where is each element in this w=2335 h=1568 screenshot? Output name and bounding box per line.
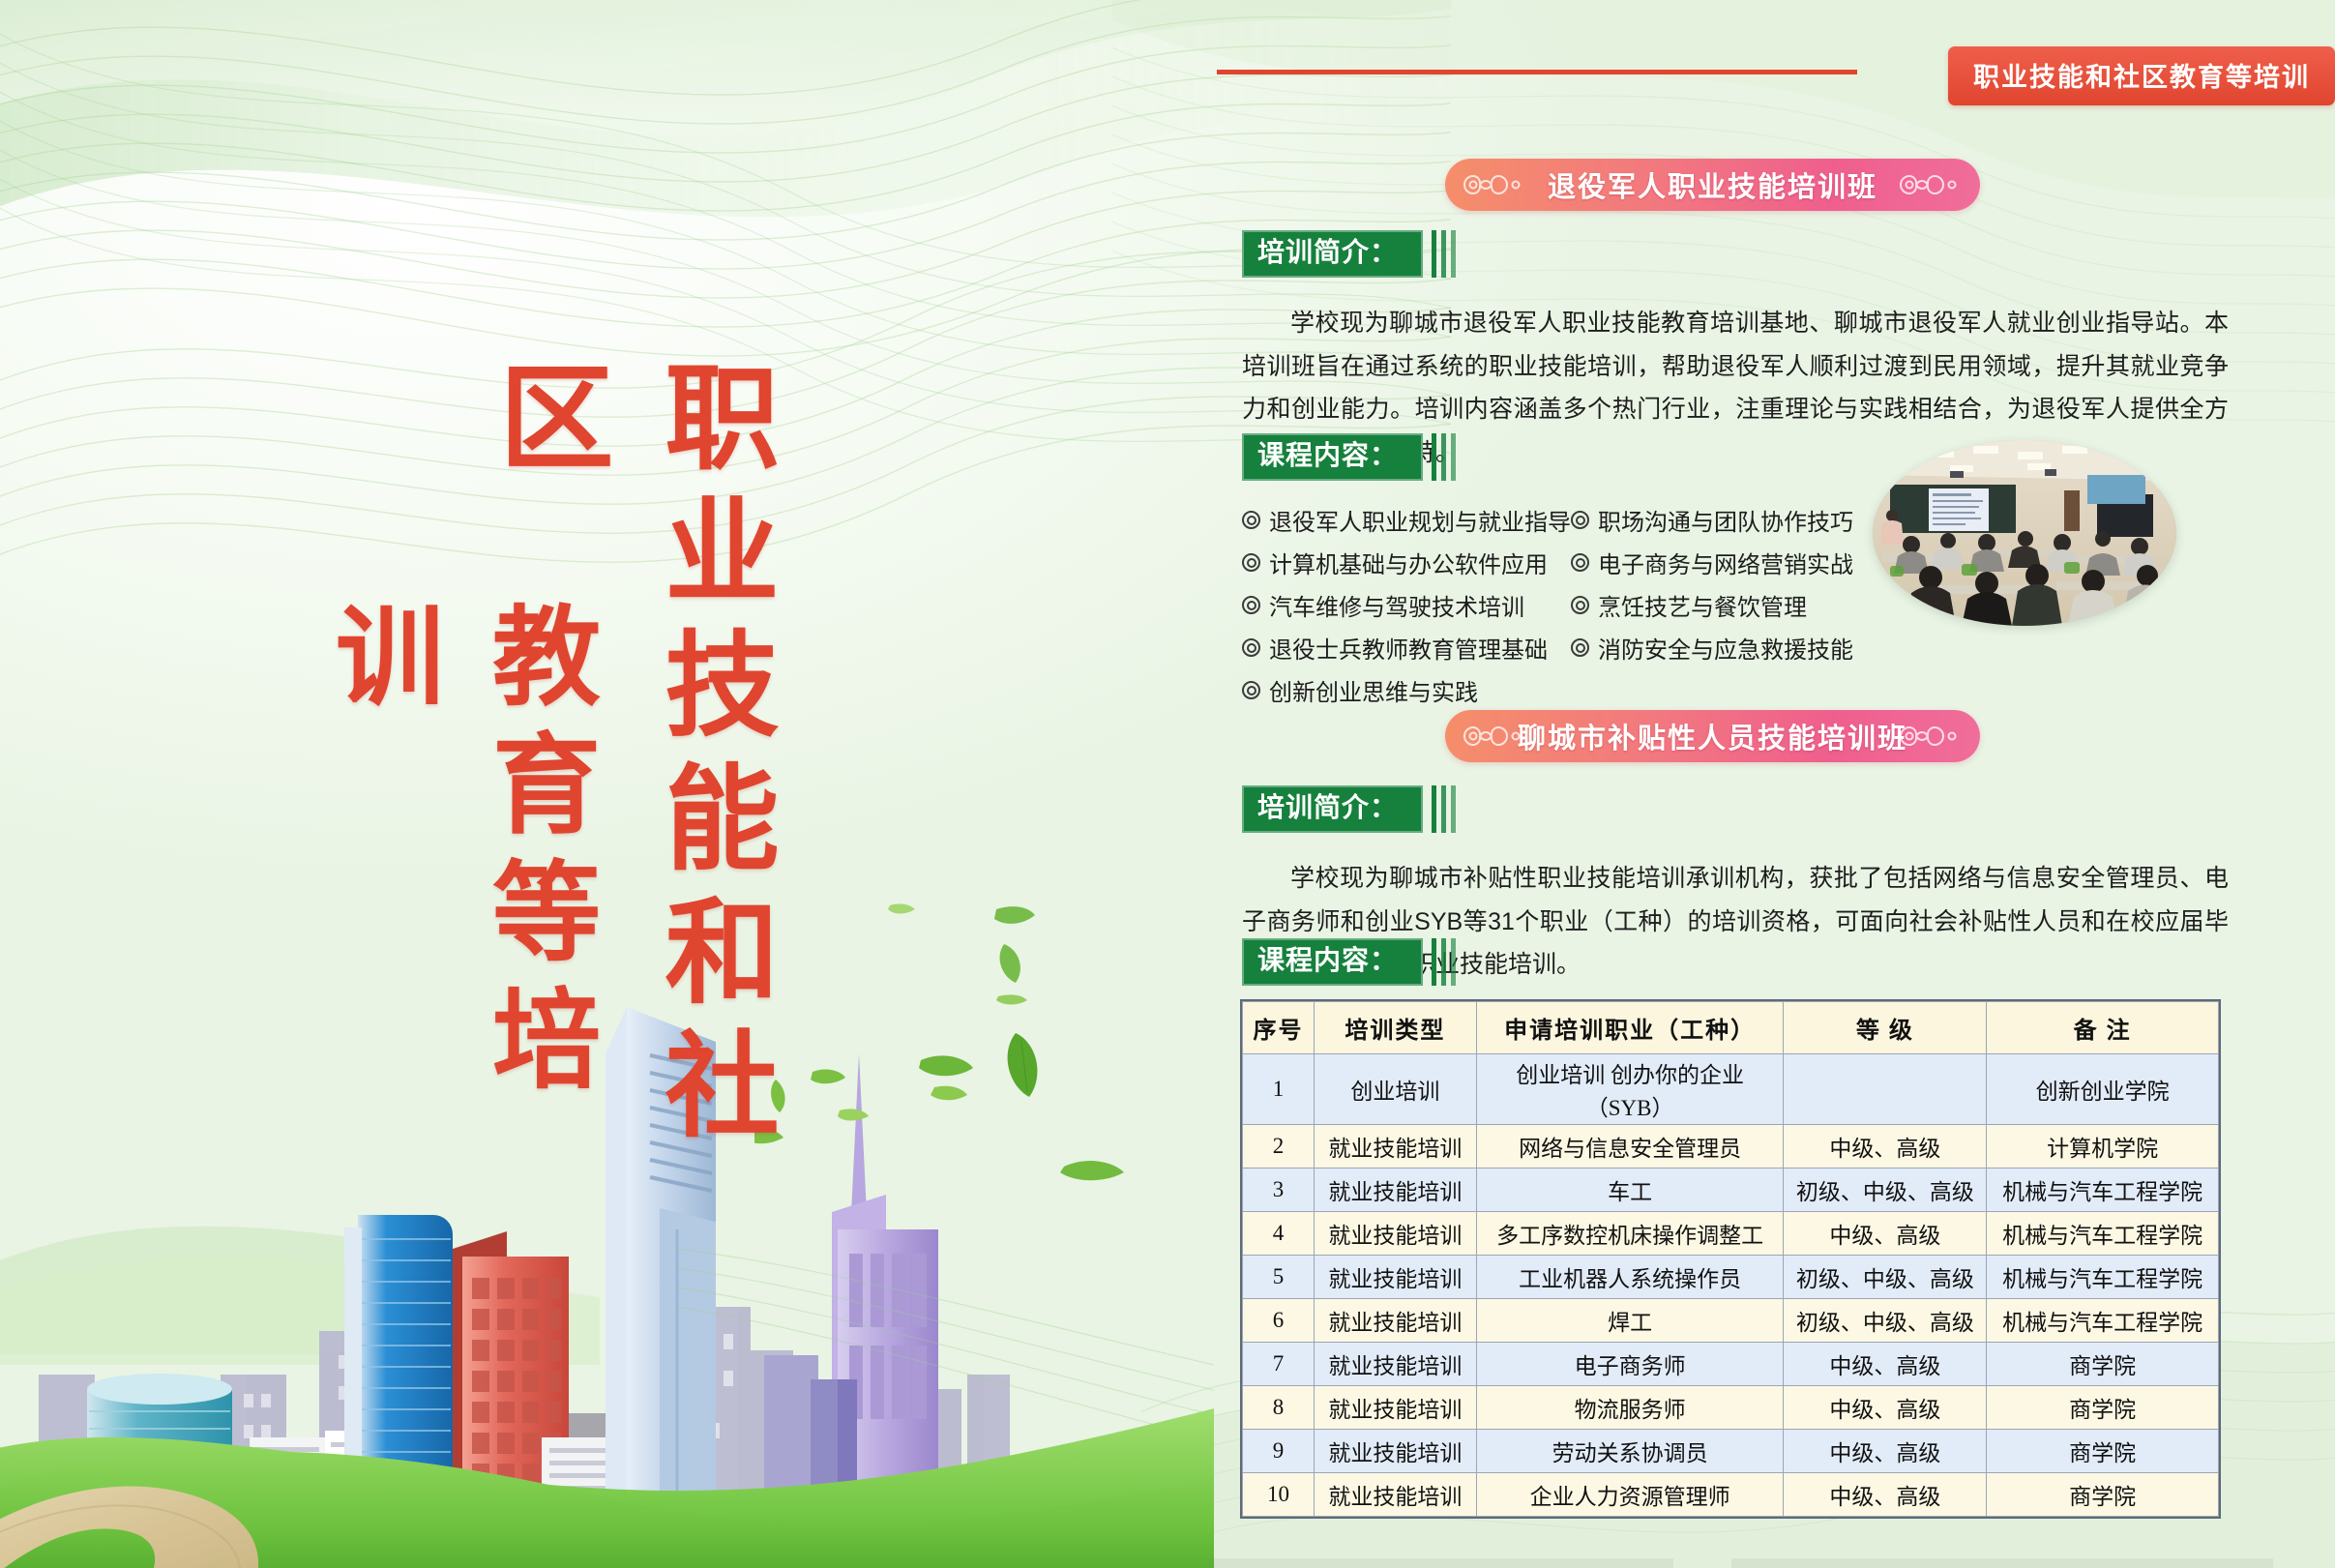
bullet-icon (1242, 511, 1260, 529)
table-body: 1创业培训创业培训 创办你的企业（SYB）创新创业学院 2就业技能培训网络与信息… (1243, 1054, 2219, 1517)
cell-no: 9 (1243, 1430, 1315, 1473)
cell-level: 中级、高级 (1784, 1430, 1987, 1473)
chip-bars (1432, 433, 1456, 481)
cloud-ornament-icon (1895, 718, 1966, 754)
intro-label-1: 培训简介： (1242, 230, 1456, 278)
cell-type: 就业技能培训 (1314, 1125, 1476, 1169)
courses-label-1: 课程内容： (1242, 433, 1456, 481)
cell-level: 中级、高级 (1784, 1473, 1987, 1517)
fold-mark-right (1731, 1558, 2273, 1568)
intro-label-2: 培训简介： (1242, 785, 1456, 833)
section-banner-1: 退役军人职业技能培训班 (1445, 159, 1980, 211)
cloud-ornament-icon (1459, 718, 1530, 754)
cell-no: 10 (1243, 1473, 1315, 1517)
course-item-label: 烹饪技艺与餐饮管理 (1598, 588, 1807, 622)
cell-occupation: 劳动关系协调员 (1476, 1430, 1784, 1473)
cell-level: 中级、高级 (1784, 1343, 1987, 1386)
cell-remark: 计算机学院 (1987, 1125, 2219, 1169)
cell-no: 2 (1243, 1125, 1315, 1169)
course-item: 烹饪技艺与餐饮管理 (1571, 588, 1878, 622)
header-rule (1217, 70, 1857, 74)
content-column: 职业技能和社区教育等培训 退役军人职业技能培训班 培训简介： 学校现为聊城市退役… (1227, 0, 2335, 1568)
bullet-icon (1571, 596, 1589, 614)
cell-occupation: 网络与信息安全管理员 (1476, 1125, 1784, 1169)
cell-no: 7 (1243, 1343, 1315, 1386)
cell-remark: 创新创业学院 (1987, 1054, 2219, 1125)
bullet-icon (1242, 681, 1260, 699)
cell-level: 初级、中级、高级 (1784, 1169, 1987, 1212)
cell-type: 就业技能培训 (1314, 1212, 1476, 1256)
table-row: 8就业技能培训物流服务师中级、高级商学院 (1243, 1386, 2219, 1430)
cell-occupation: 企业人力资源管理师 (1476, 1473, 1784, 1517)
table-row: 7就业技能培训电子商务师中级、高级商学院 (1243, 1343, 2219, 1386)
cell-occupation: 车工 (1476, 1169, 1784, 1212)
cell-level: 中级、高级 (1784, 1125, 1987, 1169)
cell-type: 创业培训 (1314, 1054, 1476, 1125)
table-header-cell: 申请培训职业（工种） (1476, 1002, 1784, 1054)
header-tag: 职业技能和社区教育等培训 (1948, 46, 2335, 105)
cell-type: 就业技能培训 (1314, 1386, 1476, 1430)
fold-mark-left (1209, 1558, 1673, 1568)
courses-label-2-text: 课程内容： (1242, 938, 1423, 986)
cell-no: 8 (1243, 1386, 1315, 1430)
cell-occupation: 工业机器人系统操作员 (1476, 1256, 1784, 1299)
course-item-label: 计算机基础与办公软件应用 (1269, 546, 1548, 579)
course-item-label: 退役军人职业规划与就业指导 (1269, 503, 1571, 537)
cell-no: 5 (1243, 1256, 1315, 1299)
table-row: 10就业技能培训企业人力资源管理师中级、高级商学院 (1243, 1473, 2219, 1517)
bullet-icon (1242, 638, 1260, 657)
cell-remark: 机械与汽车工程学院 (1987, 1299, 2219, 1343)
cell-remark: 商学院 (1987, 1473, 2219, 1517)
cell-occupation: 焊工 (1476, 1299, 1784, 1343)
cell-no: 6 (1243, 1299, 1315, 1343)
table-row: 9就业技能培训劳动关系协调员中级、高级商学院 (1243, 1430, 2219, 1473)
bullet-icon (1571, 553, 1589, 572)
classroom-photo (1873, 440, 2176, 626)
table-header-cell: 培训类型 (1314, 1002, 1476, 1054)
course-list-1: 退役军人职业规划与就业指导 职场沟通与团队协作技巧 计算机基础与办公软件应用 电… (1242, 503, 1878, 707)
course-item-label: 消防安全与应急救援技能 (1598, 631, 1853, 665)
cell-type: 就业技能培训 (1314, 1256, 1476, 1299)
course-item: 消防安全与应急救援技能 (1571, 631, 1878, 665)
chip-bars (1432, 230, 1456, 278)
section-banner-1-label: 退役军人职业技能培训班 (1548, 164, 1877, 205)
course-item-label: 电子商务与网络营销实战 (1598, 546, 1853, 579)
cell-no: 3 (1243, 1169, 1315, 1212)
table-row: 5就业技能培训工业机器人系统操作员初级、中级、高级机械与汽车工程学院 (1243, 1256, 2219, 1299)
section-banner-2: 聊城市补贴性人员技能培训班 (1445, 710, 1980, 762)
intro-label-2-text: 培训简介： (1242, 785, 1423, 833)
course-item-label: 创新创业思维与实践 (1269, 673, 1478, 707)
table-row: 3就业技能培训车工初级、中级、高级机械与汽车工程学院 (1243, 1169, 2219, 1212)
cell-type: 就业技能培训 (1314, 1299, 1476, 1343)
cover-title-column-2: 教育等培训 (301, 600, 614, 1161)
cloud-ornament-icon (1459, 166, 1530, 203)
cell-type: 就业技能培训 (1314, 1473, 1476, 1517)
falling-leaves (754, 871, 1257, 1190)
cell-remark: 机械与汽车工程学院 (1987, 1212, 2219, 1256)
course-item: 创新创业思维与实践 (1242, 673, 1550, 707)
chip-bars (1432, 785, 1456, 833)
table-header-cell: 备 注 (1987, 1002, 2219, 1054)
cell-no: 4 (1243, 1212, 1315, 1256)
cell-no: 1 (1243, 1054, 1315, 1125)
cell-occupation: 多工序数控机床操作调整工 (1476, 1212, 1784, 1256)
cell-remark: 机械与汽车工程学院 (1987, 1169, 2219, 1212)
table-header-cell: 序号 (1243, 1002, 1315, 1054)
courses-label-1-text: 课程内容： (1242, 433, 1423, 481)
course-item-label: 退役士兵教师教育管理基础 (1269, 631, 1548, 665)
course-item-label: 汽车维修与驾驶技术培训 (1269, 588, 1524, 622)
table-row: 1创业培训创业培训 创办你的企业（SYB）创新创业学院 (1243, 1054, 2219, 1125)
cell-remark: 机械与汽车工程学院 (1987, 1256, 2219, 1299)
table-header-cell: 等 级 (1784, 1002, 1987, 1054)
cell-remark: 商学院 (1987, 1430, 2219, 1473)
cell-remark: 商学院 (1987, 1386, 2219, 1430)
bullet-icon (1571, 638, 1589, 657)
chip-bars (1432, 938, 1456, 986)
bullet-icon (1242, 553, 1260, 572)
cell-level: 中级、高级 (1784, 1212, 1987, 1256)
table-header-row: 序号 培训类型 申请培训职业（工种） 等 级 备 注 (1243, 1002, 2219, 1054)
course-item: 计算机基础与办公软件应用 (1242, 546, 1550, 579)
cell-type: 就业技能培训 (1314, 1430, 1476, 1473)
course-item: 退役军人职业规划与就业指导 (1242, 503, 1550, 537)
brochure-page: 职业技能和社区 教育等培训 职业技能和社区教育等培训 退役军人职业技能培训班 (0, 0, 2335, 1568)
cell-occupation: 创业培训 创办你的企业（SYB） (1476, 1054, 1784, 1125)
courses-label-2: 课程内容： (1242, 938, 1456, 986)
cell-type: 就业技能培训 (1314, 1169, 1476, 1212)
cell-remark: 商学院 (1987, 1343, 2219, 1386)
cell-level: 初级、中级、高级 (1784, 1256, 1987, 1299)
cell-type: 就业技能培训 (1314, 1343, 1476, 1386)
intro-label-1-text: 培训简介： (1242, 230, 1423, 278)
cell-level: 中级、高级 (1784, 1386, 1987, 1430)
course-item: 电子商务与网络营销实战 (1571, 546, 1878, 579)
course-item-label: 职场沟通与团队协作技巧 (1598, 503, 1853, 537)
table-row: 4就业技能培训多工序数控机床操作调整工中级、高级机械与汽车工程学院 (1243, 1212, 2219, 1256)
cover-title: 职业技能和社区 教育等培训 (387, 358, 793, 1161)
cell-occupation: 电子商务师 (1476, 1343, 1784, 1386)
training-occupations-table: 序号 培训类型 申请培训职业（工种） 等 级 备 注 1创业培训创业培训 创办你… (1242, 1001, 2219, 1517)
cell-level: 初级、中级、高级 (1784, 1299, 1987, 1343)
cell-level (1784, 1054, 1987, 1125)
cell-occupation: 物流服务师 (1476, 1386, 1784, 1430)
cloud-ornament-icon (1895, 166, 1966, 203)
course-item: 职场沟通与团队协作技巧 (1571, 503, 1878, 537)
table-row: 2就业技能培训网络与信息安全管理员中级、高级计算机学院 (1243, 1125, 2219, 1169)
table-row: 6就业技能培训焊工初级、中级、高级机械与汽车工程学院 (1243, 1299, 2219, 1343)
section-banner-2-label: 聊城市补贴性人员技能培训班 (1518, 716, 1907, 756)
course-item: 退役士兵教师教育管理基础 (1242, 631, 1550, 665)
course-item: 汽车维修与驾驶技术培训 (1242, 588, 1550, 622)
bullet-icon (1571, 511, 1589, 529)
bullet-icon (1242, 596, 1260, 614)
